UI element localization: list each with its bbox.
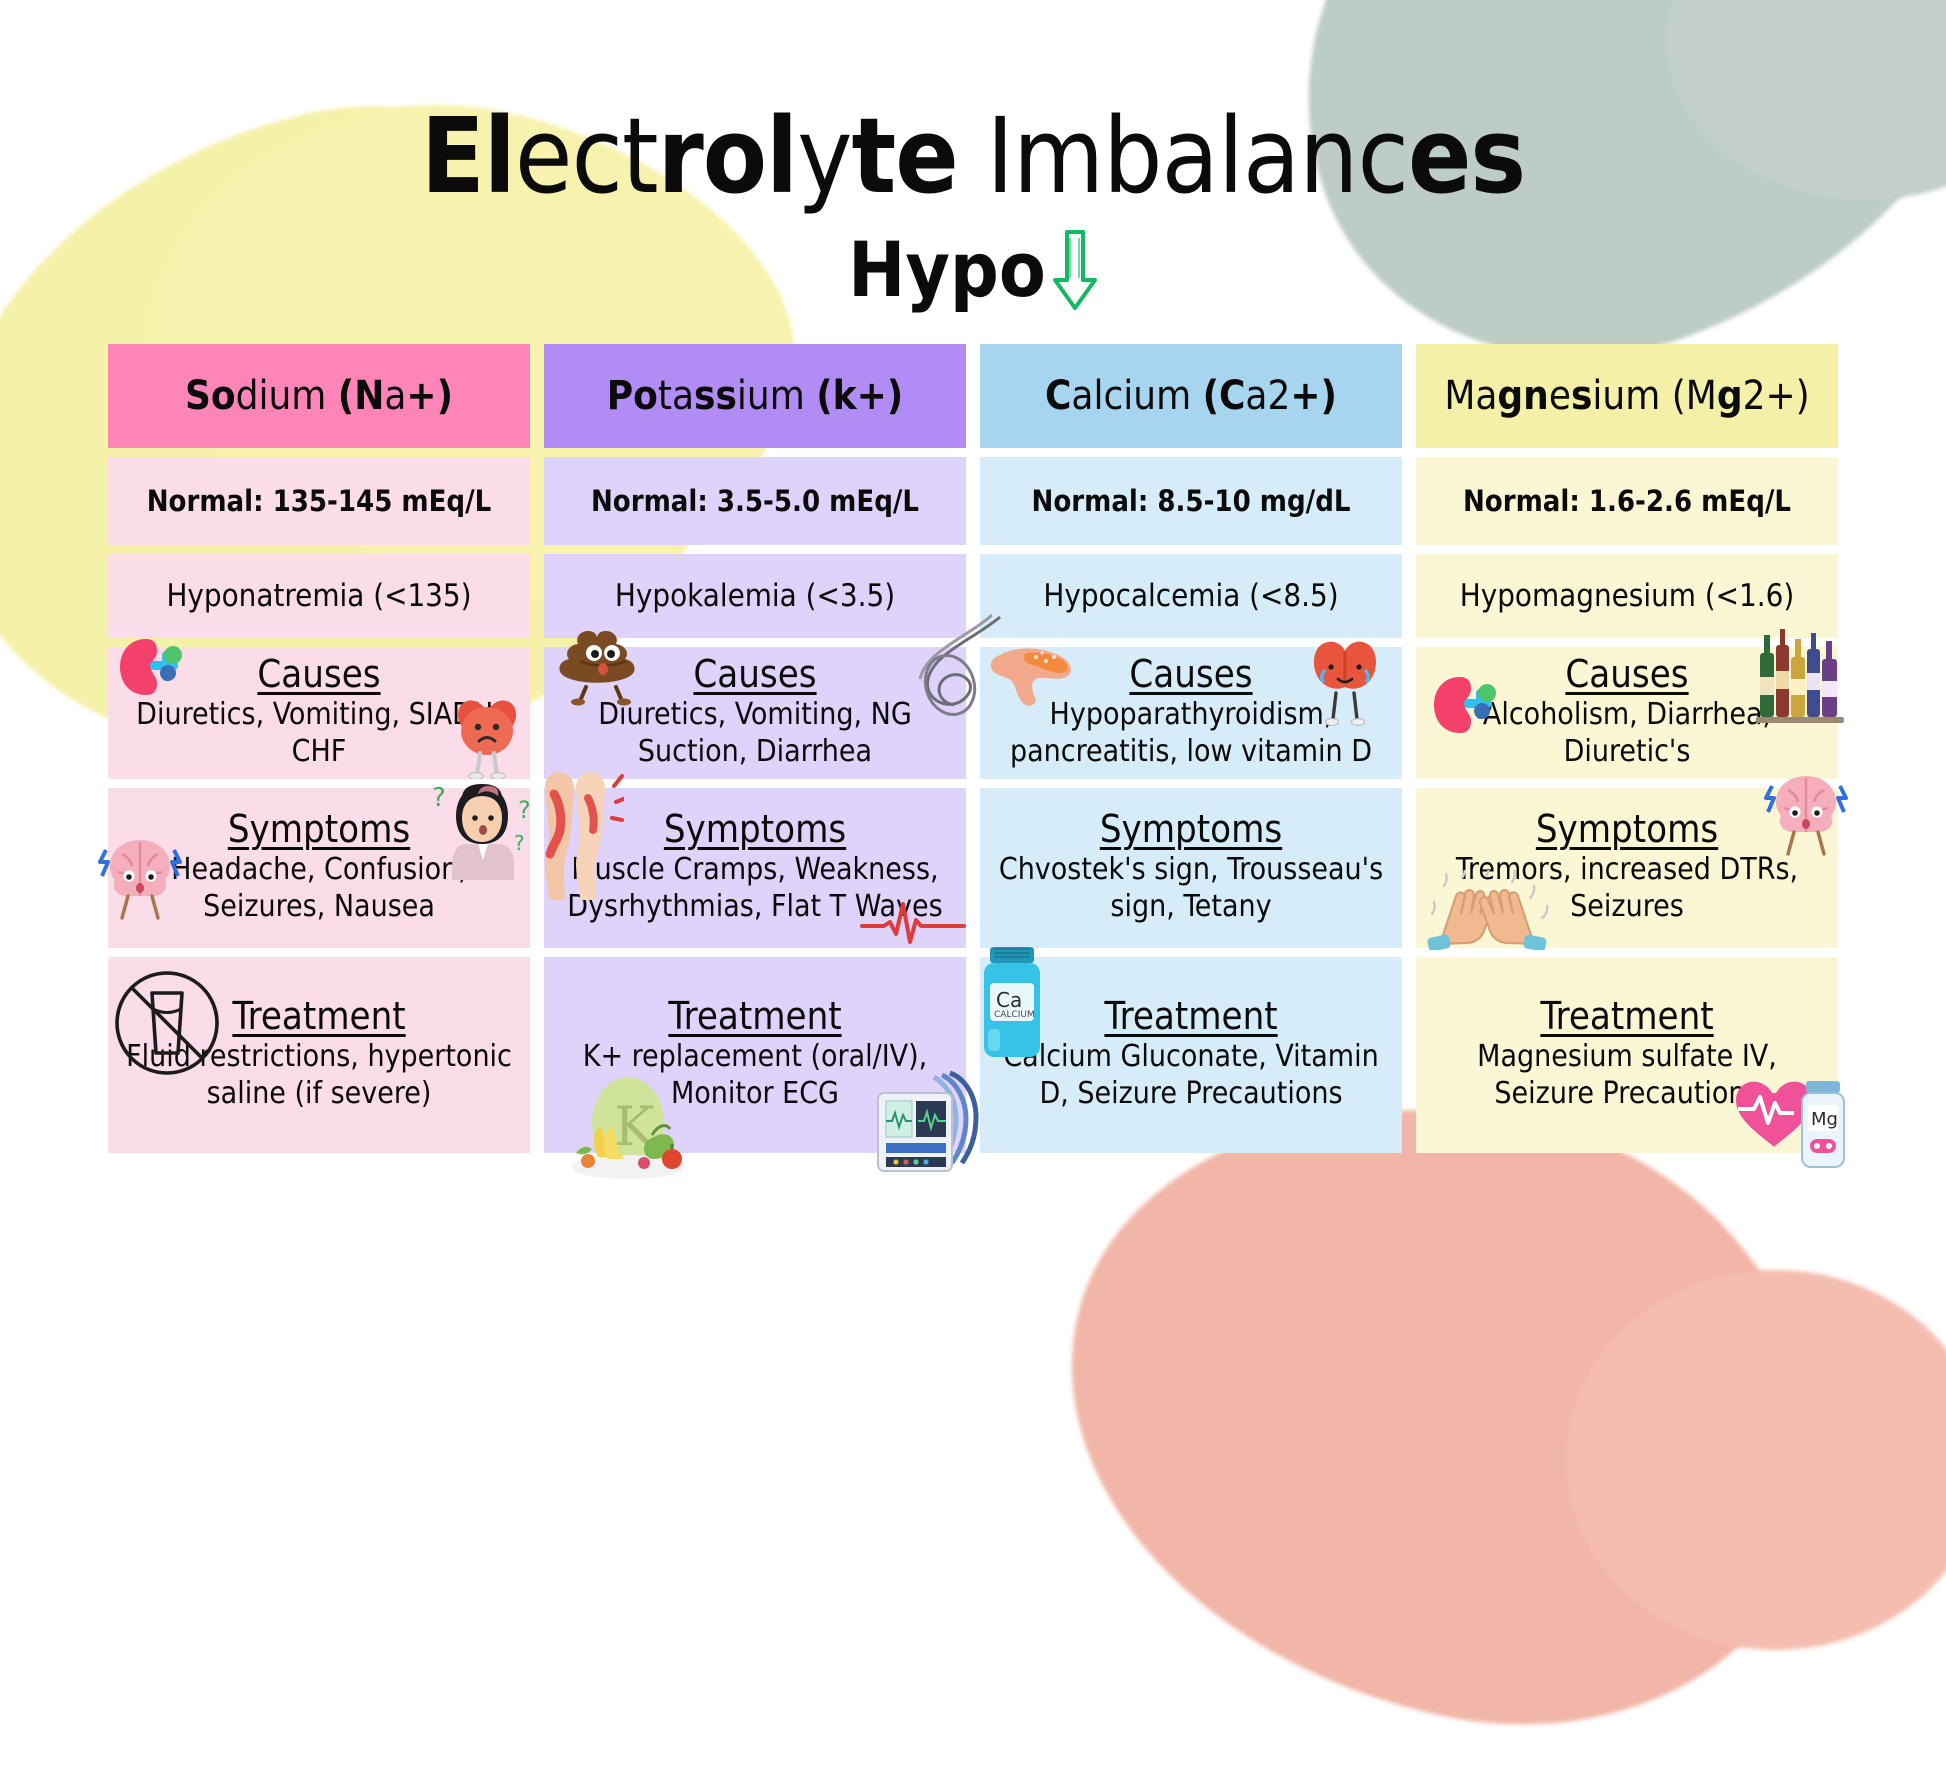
section-title-treatment: Treatment <box>1540 997 1713 1037</box>
section-title-symptoms: Symptoms <box>228 810 410 850</box>
title-area: Electrolyte Imbalances <box>0 0 1946 208</box>
section-body-treatment: Magnesium sulfate IV, Seizure Precaution… <box>1426 1039 1828 1112</box>
causes-magnesium: CausesAlcoholism, Diarrhea, Diuretic's <box>1416 647 1838 779</box>
symptoms-sodium: SymptomsHeadache, Confusion, Seizures, N… <box>108 788 530 948</box>
section-body-symptoms: Headache, Confusion, Seizures, Nausea <box>118 852 520 925</box>
section-body-treatment: K+ replacement (oral/IV), Monitor ECG <box>554 1039 956 1112</box>
page-subtitle: Hypo <box>848 232 1046 308</box>
electrolyte-table: Sodium (Na+)Potassium (k+)Calcium (Ca2+)… <box>108 344 1838 1153</box>
section-body-symptoms: Muscle Cramps, Weakness, Dysrhythmias, F… <box>554 852 956 925</box>
condition-label: Hypomagnesium (<1.6) <box>1460 581 1795 612</box>
treatment-sodium: TreatmentFluid restrictions, hypertonic … <box>108 957 530 1153</box>
section-body-causes: Hypoparathyroidism, pancreatitis, low vi… <box>990 697 1392 770</box>
section-title-symptoms: Symptoms <box>1100 810 1282 850</box>
section-title-treatment: Treatment <box>1104 997 1277 1037</box>
causes-sodium: CausesDiuretics, Vomiting, SIADH, CHF <box>108 647 530 779</box>
normal-range-calcium: Normal: 8.5-10 mg/dL <box>980 457 1402 545</box>
column-header-potassium: Potassium (k+) <box>544 344 966 448</box>
section-title-symptoms: Symptoms <box>1536 810 1718 850</box>
column-header-label: Potassium (k+) <box>607 376 903 416</box>
condition-label: Hypokalemia (<3.5) <box>615 581 895 612</box>
section-title-treatment: Treatment <box>232 997 405 1037</box>
column-header-sodium: Sodium (Na+) <box>108 344 530 448</box>
normal-range-sodium: Normal: 135-145 mEq/L <box>108 457 530 545</box>
causes-calcium: CausesHypoparathyroidism, pancreatitis, … <box>980 647 1402 779</box>
section-body-symptoms: Tremors, increased DTRs, Seizures <box>1426 852 1828 925</box>
column-header-label: Calcium (Ca2+) <box>1045 376 1337 416</box>
brain-icon <box>1764 768 1848 860</box>
section-title-symptoms: Symptoms <box>664 810 846 850</box>
svg-text:?: ? <box>432 783 446 813</box>
symptoms-potassium: SymptomsMuscle Cramps, Weakness, Dysrhyt… <box>544 788 966 948</box>
condition-name-calcium: Hypocalcemia (<8.5) <box>980 554 1402 638</box>
symptoms-magnesium: SymptomsTremors, increased DTRs, Seizure… <box>1416 788 1838 948</box>
column-header-label: Magnesium (Mg2+) <box>1444 376 1809 416</box>
treatment-potassium: TreatmentK+ replacement (oral/IV), Monit… <box>544 957 966 1153</box>
page-title: Electrolyte Imbalances <box>0 104 1946 208</box>
condition-label: Hypocalcemia (<8.5) <box>1043 581 1338 612</box>
condition-name-potassium: Hypokalemia (<3.5) <box>544 554 966 638</box>
treatment-calcium: TreatmentCalcium Gluconate, Vitamin D, S… <box>980 957 1402 1153</box>
normal-range-label: Normal: 135-145 mEq/L <box>147 487 492 516</box>
column-header-magnesium: Magnesium (Mg2+) <box>1416 344 1838 448</box>
treatment-magnesium: TreatmentMagnesium sulfate IV, Seizure P… <box>1416 957 1838 1153</box>
section-body-treatment: Calcium Gluconate, Vitamin D, Seizure Pr… <box>990 1039 1392 1112</box>
condition-name-magnesium: Hypomagnesium (<1.6) <box>1416 554 1838 638</box>
section-title-causes: Causes <box>1129 655 1252 695</box>
condition-name-sodium: Hyponatremia (<135) <box>108 554 530 638</box>
svg-text:CALCIUM: CALCIUM <box>994 1010 1035 1020</box>
subtitle-area: Hypo <box>0 222 1946 318</box>
normal-range-label: Normal: 3.5-5.0 mEq/L <box>591 487 919 516</box>
section-body-symptoms: Chvostek's sign, Trousseau's sign, Tetan… <box>990 852 1392 925</box>
down-arrow-icon <box>1052 228 1098 318</box>
section-title-causes: Causes <box>693 655 816 695</box>
condition-label: Hyponatremia (<135) <box>166 581 471 612</box>
svg-text:Ca: Ca <box>996 988 1022 1012</box>
normal-range-magnesium: Normal: 1.6-2.6 mEq/L <box>1416 457 1838 545</box>
section-title-causes: Causes <box>1565 655 1688 695</box>
section-title-causes: Causes <box>257 655 380 695</box>
kidney-icon <box>112 633 190 703</box>
normal-range-label: Normal: 8.5-10 mg/dL <box>1032 487 1351 516</box>
svg-text:?: ? <box>518 796 531 824</box>
causes-potassium: CausesDiuretics, Vomiting, NG Suction, D… <box>544 647 966 779</box>
normal-range-label: Normal: 1.6-2.6 mEq/L <box>1463 487 1791 516</box>
section-body-causes: Diuretics, Vomiting, SIADH, CHF <box>118 697 520 770</box>
normal-range-potassium: Normal: 3.5-5.0 mEq/L <box>544 457 966 545</box>
section-body-causes: Diuretics, Vomiting, NG Suction, Diarrhe… <box>554 697 956 770</box>
column-header-label: Sodium (Na+) <box>185 376 453 416</box>
column-header-calcium: Calcium (Ca2+) <box>980 344 1402 448</box>
section-title-treatment: Treatment <box>668 997 841 1037</box>
symptoms-calcium: SymptomsChvostek's sign, Trousseau's sig… <box>980 788 1402 948</box>
section-body-treatment: Fluid restrictions, hypertonic saline (i… <box>118 1039 520 1112</box>
section-body-causes: Alcoholism, Diarrhea, Diuretic's <box>1426 697 1828 770</box>
